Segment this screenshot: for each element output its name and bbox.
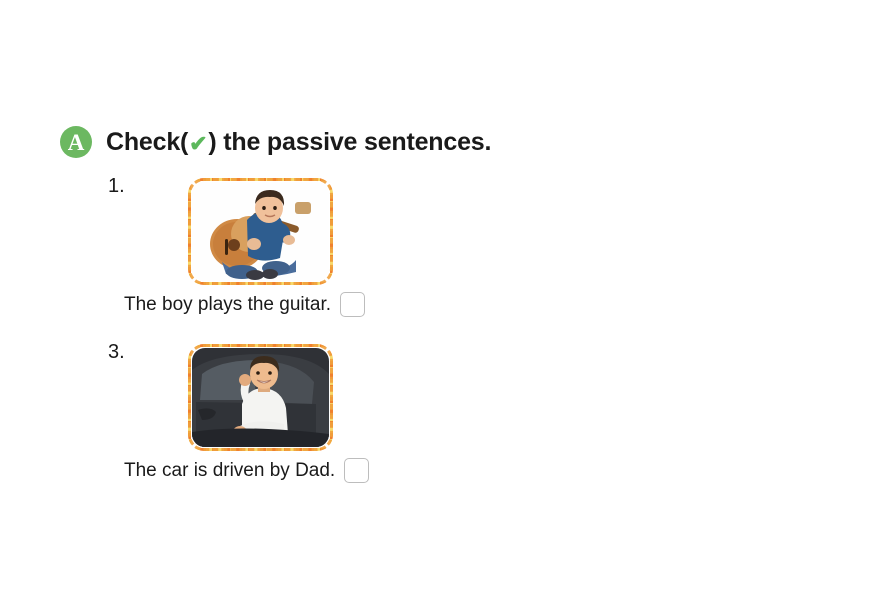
- exercise-item-3: 3.: [0, 338, 436, 504]
- answer-checkbox[interactable]: [340, 292, 365, 317]
- item-number: 3.: [108, 342, 125, 362]
- item-number: 1.: [108, 176, 125, 196]
- instruction-text-after: ) the passive sentences.: [208, 128, 491, 157]
- activity-heading: A Check( ✔ ) the passive sentences.: [60, 126, 491, 158]
- item-row: 1.: [0, 172, 873, 338]
- caption-row: The boy plays the guitar.: [124, 292, 365, 317]
- boy-playing-guitar-photo: [192, 182, 329, 281]
- exercise-item-2: 2.: [436, 172, 872, 338]
- photo-frame: [188, 344, 333, 451]
- worksheet-page: A Check( ✔ ) the passive sentences. 1.: [0, 0, 873, 612]
- page-title: Check( ✔ ) the passive sentences.: [106, 128, 491, 157]
- exercise-item-1: 1.: [0, 172, 436, 338]
- caption-row: The car is driven by Dad.: [124, 458, 369, 483]
- check-mark-icon: ✔: [188, 131, 208, 157]
- activity-letter-badge-label: A: [68, 131, 85, 154]
- exercise-items: 1.: [0, 172, 873, 504]
- answer-checkbox[interactable]: [344, 458, 369, 483]
- instruction-text-before: Check(: [106, 128, 188, 157]
- activity-letter-badge: A: [60, 126, 92, 158]
- sentence-text: The boy plays the guitar.: [124, 295, 331, 314]
- photo-frame: [188, 178, 333, 285]
- item-row: 3.: [0, 338, 873, 504]
- man-in-car-photo: [192, 348, 329, 447]
- sentence-text: The car is driven by Dad.: [124, 461, 335, 480]
- exercise-item-4: 4.: [436, 338, 872, 504]
